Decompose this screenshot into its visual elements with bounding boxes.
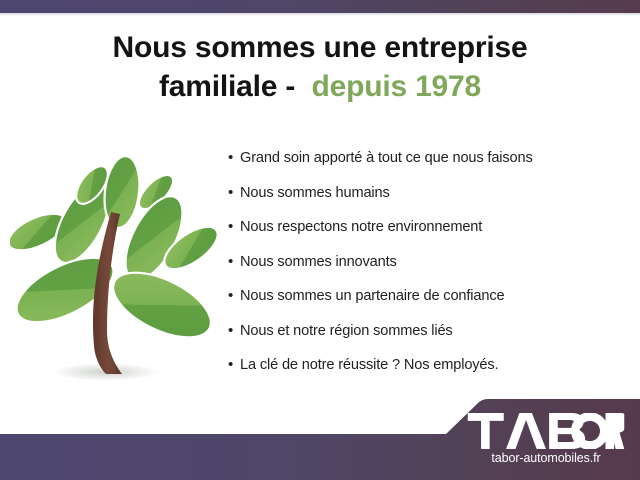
page-title-line-2: familiale - depuis 1978 (0, 67, 640, 106)
list-item-label: Grand soin apporté à tout ce que nous fa… (240, 148, 533, 168)
tree-illustration (10, 150, 222, 390)
page-title-accent: depuis 1978 (311, 70, 481, 103)
list-item-label: Nous sommes un partenaire de confiance (240, 286, 504, 306)
list-item: • Nous sommes innovants (228, 252, 628, 272)
page-title-line-1: Nous sommes une entreprise (0, 28, 640, 67)
list-item-label: Nous sommes innovants (240, 252, 397, 272)
list-item: • Nous et notre région sommes liés (228, 321, 628, 341)
value-bullet-list: • Grand soin apporté à tout ce que nous … (228, 148, 628, 390)
bullet-marker-icon: • (228, 286, 240, 306)
list-item-label: La clé de notre réussite ? Nos employés. (240, 355, 498, 375)
brand-logo[interactable]: tabor-automobiles.fr (466, 413, 626, 466)
bullet-marker-icon: • (228, 217, 240, 237)
list-item: • Nous sommes humains (228, 183, 628, 203)
brand-domain-label: tabor-automobiles.fr (466, 451, 626, 466)
tree-leaf (101, 154, 144, 230)
bullet-marker-icon: • (228, 321, 240, 341)
brand-wordmark-icon (466, 413, 626, 449)
top-accent-bar (0, 0, 640, 13)
top-accent-bar-shadow (0, 13, 640, 16)
page-title-line-2-text: familiale - (159, 70, 311, 103)
list-item: • Nous respectons notre environnement (228, 217, 628, 237)
bullet-marker-icon: • (228, 252, 240, 272)
bullet-marker-icon: • (228, 148, 240, 168)
list-item-label: Nous respectons notre environnement (240, 217, 482, 237)
tree-leaf (103, 259, 220, 350)
list-item: • La clé de notre réussite ? Nos employé… (228, 355, 628, 375)
bullet-marker-icon: • (228, 183, 240, 203)
list-item-label: Nous et notre région sommes liés (240, 321, 453, 341)
list-item-label: Nous sommes humains (240, 183, 390, 203)
bullet-marker-icon: • (228, 355, 240, 375)
page-title: Nous sommes une entreprise familiale - d… (0, 28, 640, 106)
list-item: • Grand soin apporté à tout ce que nous … (228, 148, 628, 168)
list-item: • Nous sommes un partenaire de confiance (228, 286, 628, 306)
